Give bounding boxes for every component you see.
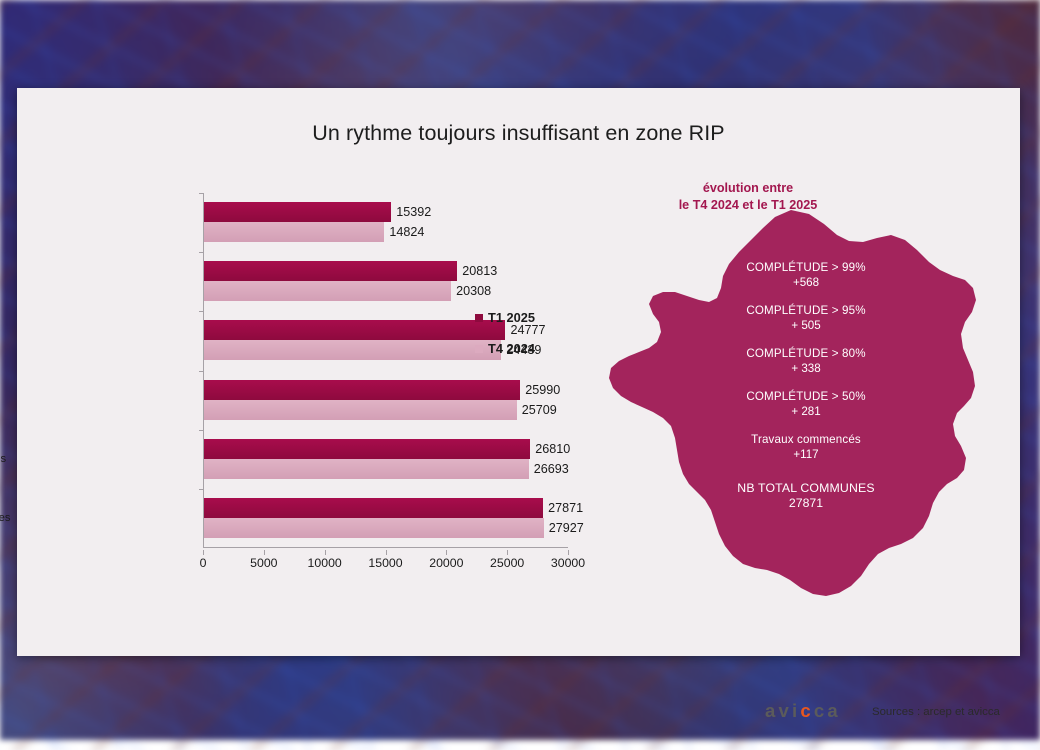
x-axis-tick: [325, 550, 326, 555]
bar-t4-2024: [204, 281, 451, 301]
map-statistics: COMPLÉTUDE > 99%+568COMPLÉTUDE > 95%+ 50…: [691, 260, 921, 524]
bar-t4-2024: [204, 518, 544, 538]
map-entry-title: Travaux commencés: [691, 432, 921, 447]
category-label: Travaux commencés: [0, 453, 34, 467]
map-entry-value: +568: [691, 275, 921, 290]
evolution-header-line1: évolution entre: [623, 180, 873, 197]
x-axis-tick: [386, 550, 387, 555]
bar-t4-2024: [204, 459, 529, 479]
map-entry-value: + 338: [691, 361, 921, 376]
y-axis-tick: [199, 489, 204, 490]
sources-note: Sources : arcep et avicca: [872, 706, 1000, 718]
category-label: Complétude> 50%: [0, 387, 34, 414]
map-entry-title: COMPLÉTUDE > 95%: [691, 303, 921, 318]
avicca-logo: avicca: [765, 700, 841, 722]
bar-t4-2024: [204, 400, 517, 420]
category-label: Nb total de communes: [0, 512, 34, 526]
map-entry-title: COMPLÉTUDE > 99%: [691, 260, 921, 275]
x-axis-tick-label: 25000: [490, 556, 524, 570]
bar-value-label: 20813: [462, 261, 497, 281]
bar-value-label: 27927: [549, 518, 584, 538]
y-axis-tick: [199, 193, 204, 194]
legend-swatch: [475, 345, 483, 353]
legend-swatch: [475, 314, 483, 322]
bar-t4-2024: [204, 222, 384, 242]
category-label-line: Complétude: [0, 387, 34, 401]
logo-suffix: ca: [814, 700, 841, 721]
y-axis-tick: [199, 252, 204, 253]
category-label-line: Complétude: [0, 327, 34, 341]
bar-chart: Complétude> 99%Complétude> 95%Complétude…: [42, 193, 602, 593]
bar-value-label: 26810: [535, 439, 570, 459]
map-statistic: COMPLÉTUDE > 95%+ 505: [691, 303, 921, 333]
bar-t1-2025: [204, 380, 520, 400]
y-axis-tick: [199, 371, 204, 372]
category-label-line: Nb total de communes: [0, 512, 34, 526]
map-statistic: COMPLÉTUDE > 80%+ 338: [691, 346, 921, 376]
bar-value-label: 27871: [548, 498, 583, 518]
category-label: Complétude> 80%: [0, 327, 34, 354]
map-entry-value: +117: [691, 447, 921, 462]
category-label-line: > 99%: [0, 223, 34, 237]
x-axis-tick: [203, 550, 204, 555]
bar-value-label: 26693: [534, 459, 569, 479]
x-axis-tick: [264, 550, 265, 555]
y-axis-tick: [199, 430, 204, 431]
x-axis-tick-label: 30000: [551, 556, 585, 570]
france-map: COMPLÉTUDE > 99%+568COMPLÉTUDE > 95%+ 50…: [595, 208, 995, 623]
bar-value-label: 20308: [456, 281, 491, 301]
bar-t1-2025: [204, 261, 457, 281]
category-label: Complétude> 99%: [0, 209, 34, 236]
logo-prefix: avi: [765, 700, 800, 721]
category-label-line: > 50%: [0, 400, 34, 414]
x-axis-tick-label: 0: [200, 556, 207, 570]
map-statistic-total: NB TOTAL COMMUNES27871: [691, 481, 921, 511]
category-label: Complétude> 95%: [0, 268, 34, 295]
legend-label: T1 2025: [488, 310, 535, 325]
bar-t1-2025: [204, 439, 530, 459]
category-label-line: > 80%: [0, 341, 34, 355]
map-entry-title: NB TOTAL COMMUNES: [691, 481, 921, 496]
x-axis-tick-label: 15000: [368, 556, 402, 570]
map-entry-value: + 281: [691, 404, 921, 419]
map-statistic: Travaux commencés+117: [691, 432, 921, 462]
category-label-line: Complétude: [0, 209, 34, 223]
bar-value-label: 25709: [522, 400, 557, 420]
x-axis: 050001000015000200002500030000: [203, 550, 568, 572]
bar-t1-2025: [204, 202, 391, 222]
x-axis-tick: [507, 550, 508, 555]
map-entry-title: COMPLÉTUDE > 50%: [691, 389, 921, 404]
slide-panel: Un rythme toujours insuffisant en zone R…: [17, 88, 1020, 656]
legend-item[interactable]: T1 2025: [475, 310, 535, 325]
x-axis-tick: [568, 550, 569, 555]
page-title: Un rythme toujours insuffisant en zone R…: [17, 121, 1020, 146]
map-entry-title: COMPLÉTUDE > 80%: [691, 346, 921, 361]
bar-value-label: 25990: [525, 380, 560, 400]
legend-label: T4 2024: [488, 341, 535, 356]
category-label-line: Travaux commencés: [0, 453, 34, 467]
x-axis-tick-label: 10000: [308, 556, 342, 570]
bar-t4-2024: [204, 340, 501, 360]
y-axis-tick: [199, 311, 204, 312]
map-statistic: COMPLÉTUDE > 50%+ 281: [691, 389, 921, 419]
x-axis-tick-label: 20000: [429, 556, 463, 570]
bar-t1-2025: [204, 320, 505, 340]
x-axis-tick: [446, 550, 447, 555]
bar-value-label: 15392: [396, 202, 431, 222]
map-entry-value: 27871: [691, 496, 921, 511]
map-statistic: COMPLÉTUDE > 99%+568: [691, 260, 921, 290]
category-label-line: Complétude: [0, 268, 34, 282]
category-label-line: > 95%: [0, 282, 34, 296]
legend-item[interactable]: T4 2024: [475, 341, 535, 356]
x-axis-tick-label: 5000: [250, 556, 277, 570]
logo-accent-letter: c: [800, 700, 814, 721]
chart-legend: T1 2025T4 2024: [475, 310, 535, 372]
bar-t1-2025: [204, 498, 543, 518]
bar-value-label: 14824: [389, 222, 424, 242]
map-entry-value: + 505: [691, 318, 921, 333]
